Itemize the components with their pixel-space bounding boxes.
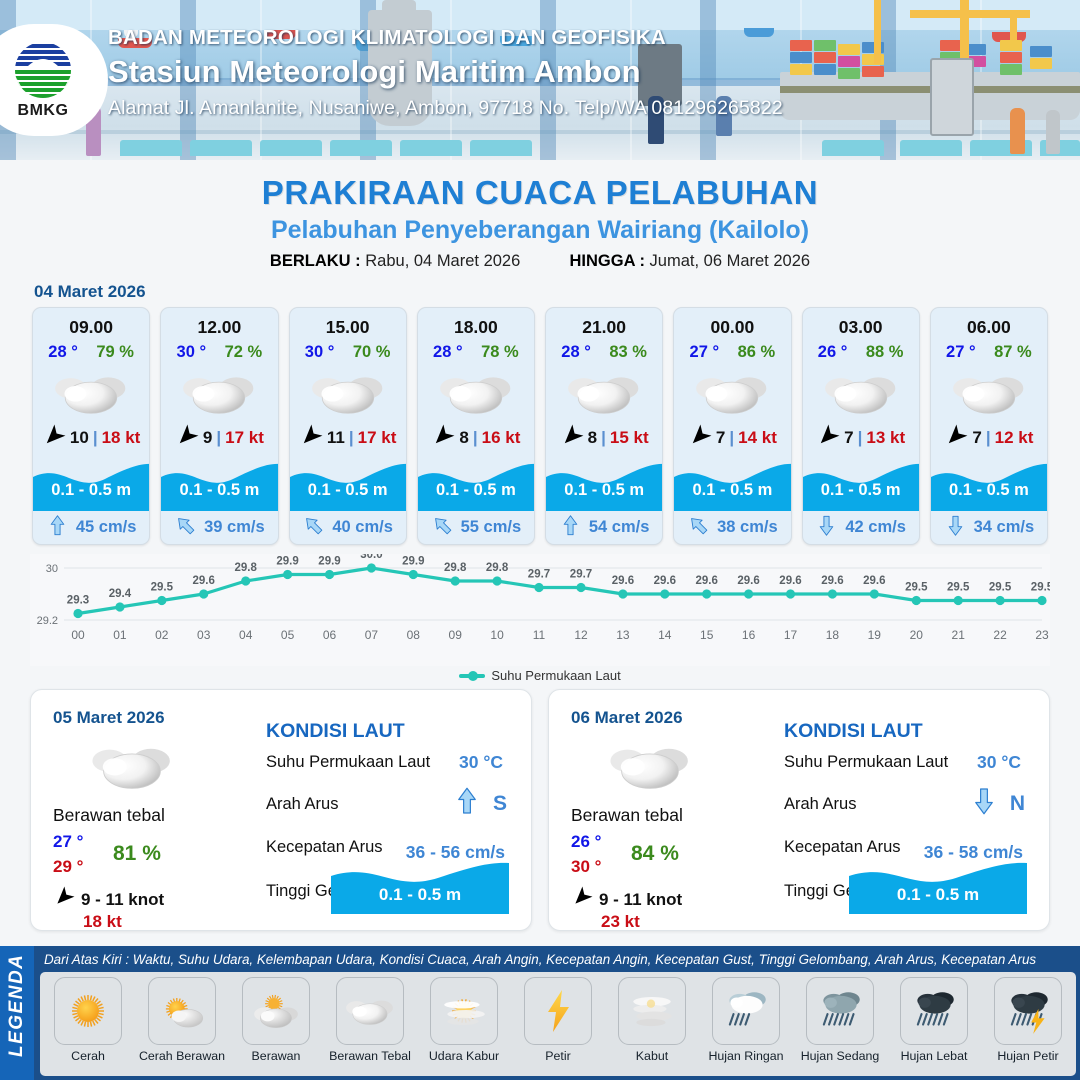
card-separator: | [216,428,221,448]
berawan-icon [242,977,310,1045]
card-wave-height: 0.1 - 0.5 m [161,481,277,500]
svg-text:29.5: 29.5 [989,582,1012,594]
hujan-lebat-icon [900,977,968,1045]
current-direction-label: Arah Arus [266,795,338,814]
berawan-tebal-icon [33,365,149,421]
svg-text:29.6: 29.6 [654,575,676,587]
card-current-speed: 54 cm/s [589,518,650,537]
card-humidity: 88 % [866,343,904,362]
card-wave-block: 0.1 - 0.5 m [674,455,790,511]
svg-text:29.6: 29.6 [696,575,718,587]
card-current-speed: 40 cm/s [332,518,393,537]
card-current-row: 38 cm/s [674,511,790,544]
sst-value: 30 °C [459,752,503,773]
summary-temp-min: 26 ° [571,832,601,852]
card-wind-row: 9 | 17 kt [161,421,277,455]
summary-wind-speed: 9 - 11 knot [599,890,682,910]
svg-text:29.7: 29.7 [570,569,592,581]
svg-text:23: 23 [1035,628,1049,642]
current-direction-icon [46,514,69,542]
card-gust: 16 kt [482,428,521,448]
svg-text:03: 03 [197,628,211,642]
card-current-row: 55 cm/s [418,511,534,544]
svg-text:14: 14 [658,628,672,642]
svg-text:29.8: 29.8 [235,562,258,574]
daily-summary-card: 05 Maret 2026 Berawan tebal 27 ° 29 ° 81… [30,689,532,931]
cerah-icon [54,977,122,1045]
sst-label: Suhu Permukaan Laut [784,753,948,772]
svg-text:01: 01 [113,628,127,642]
card-current-speed: 34 cm/s [974,518,1035,537]
svg-text:18: 18 [826,628,840,642]
card-temp-hum: 27 ° 87 % [931,338,1047,362]
forecast-card: 00.00 27 ° 86 % 7 | 14 kt 0.1 - 0.5 m [673,307,791,545]
card-wind-speed: 7 [716,428,725,448]
card-wave-height: 0.1 - 0.5 m [546,481,662,500]
card-time: 12.00 [161,308,277,338]
current-direction-value: N [1010,792,1025,816]
card-wave-block: 0.1 - 0.5 m [418,455,534,511]
svg-text:30.0: 30.0 [360,554,382,561]
kabut-icon [618,977,686,1045]
petir-icon [524,977,592,1045]
berawan-tebal-icon [418,365,534,421]
card-wind-row: 11 | 17 kt [290,421,406,455]
wind-direction-icon [175,424,199,453]
legend-item-label: Kabut [636,1049,668,1063]
card-wave-block: 0.1 - 0.5 m [290,455,406,511]
hujan-petir-icon [994,977,1062,1045]
legend-item-label: Berawan Tebal [329,1049,411,1063]
svg-text:29.2: 29.2 [37,615,58,627]
svg-text:29.7: 29.7 [528,569,550,581]
card-current-speed: 39 cm/s [204,518,265,537]
card-separator: | [93,428,98,448]
validity-row: BERLAKU : Rabu, 04 Maret 2026 HINGGA : J… [0,252,1080,271]
card-gust: 17 kt [358,428,397,448]
card-current-row: 34 cm/s [931,511,1047,544]
sst-label: Suhu Permukaan Laut [266,753,430,772]
card-temp-hum: 27 ° 86 % [674,338,790,362]
card-current-row: 40 cm/s [290,511,406,544]
legend-note: Dari Atas Kiri : Waktu, Suhu Udara, Kele… [44,952,1036,967]
daily-summary-card: 06 Maret 2026 Berawan tebal 26 ° 30 ° 84… [548,689,1050,931]
forecast-card-row: 09.00 28 ° 79 % 10 | 18 kt 0.1 - 0.5 m [0,307,1080,545]
berawan-tebal-icon [546,365,662,421]
card-time: 15.00 [290,308,406,338]
svg-text:22: 22 [993,628,1007,642]
legend-item-label: Hujan Ringan [708,1049,783,1063]
forecast-card: 12.00 30 ° 72 % 9 | 17 kt 0.1 - 0.5 m [160,307,278,545]
card-wave-height: 0.1 - 0.5 m [290,481,406,500]
svg-text:29.6: 29.6 [821,575,843,587]
station-name: Stasiun Meteorologi Maritim Ambon [108,54,783,90]
header-text-block: BADAN METEOROLOGI KLIMATOLOGI DAN GEOFIS… [108,26,783,120]
forecast-card: 21.00 28 ° 83 % 8 | 15 kt 0.1 - 0.5 m [545,307,663,545]
summary-humidity: 84 % [631,842,679,866]
card-temp-hum: 30 ° 72 % [161,338,277,362]
svg-text:29.5: 29.5 [947,582,970,594]
card-temp-hum: 30 ° 70 % [290,338,406,362]
cerah-berawan-icon [148,977,216,1045]
card-wind-speed: 7 [972,428,981,448]
summary-temp-min: 27 ° [53,832,83,852]
svg-text:29.3: 29.3 [67,595,89,607]
summary-wave-block: 0.1 - 0.5 m [849,852,1027,914]
wind-direction-icon [53,886,75,913]
svg-text:20: 20 [910,628,924,642]
legend-line-marker [459,674,485,678]
hujan-sedang-icon [806,977,874,1045]
card-wind-row: 8 | 15 kt [546,421,662,455]
svg-text:29.6: 29.6 [612,575,634,587]
legend-item: Cerah [44,977,132,1074]
svg-text:29.4: 29.4 [109,588,132,600]
current-direction-icon [559,514,582,542]
legend-item-label: Cerah [71,1049,105,1063]
svg-text:04: 04 [239,628,253,642]
svg-text:07: 07 [365,628,379,642]
berawan-tebal-icon [89,738,175,799]
current-direction-label: Arah Arus [784,795,856,814]
berawan-tebal-icon [931,365,1047,421]
wind-direction-icon [431,424,455,453]
current-direction-icon [174,514,197,542]
svg-text:13: 13 [616,628,630,642]
card-temperature: 30 ° [177,343,207,362]
wind-direction-icon [688,424,712,453]
berawan-tebal-icon [336,977,404,1045]
current-direction-icon [302,514,325,542]
valid-until-value: Jumat, 06 Maret 2026 [650,252,811,270]
summary-wind-row: 9 - 11 knot [571,886,682,913]
card-separator: | [858,428,863,448]
svg-text:12: 12 [574,628,588,642]
legend-item-label: Berawan [252,1049,301,1063]
card-humidity: 78 % [481,343,519,362]
card-current-speed: 55 cm/s [461,518,522,537]
card-temperature: 27 ° [690,343,720,362]
card-current-speed: 38 cm/s [717,518,778,537]
bmkg-logo-mark [12,41,74,101]
card-temp-hum: 26 ° 88 % [803,338,919,362]
card-current-row: 42 cm/s [803,511,919,544]
wind-direction-icon [560,424,584,453]
svg-text:29.9: 29.9 [318,556,340,568]
svg-text:05: 05 [281,628,295,642]
summary-temp-max: 29 ° [53,857,83,877]
summary-condition: Berawan tebal [53,805,165,826]
card-wave-block: 0.1 - 0.5 m [33,455,149,511]
card-separator: | [473,428,478,448]
card-wave-block: 0.1 - 0.5 m [931,455,1047,511]
legend-item: Petir [514,977,602,1074]
card-separator: | [729,428,734,448]
card-wave-height: 0.1 - 0.5 m [803,481,919,500]
svg-text:09: 09 [449,628,463,642]
wind-direction-icon [571,886,593,913]
card-temp-hum: 28 ° 78 % [418,338,534,362]
wind-direction-icon [42,424,66,453]
legend-label: Suhu Permukaan Laut [491,668,620,683]
page-header: BMKG BADAN METEOROLOGI KLIMATOLOGI DAN G… [0,0,1080,160]
current-direction-icon [431,514,454,542]
card-wind-speed: 8 [588,428,597,448]
svg-text:29.5: 29.5 [1031,582,1050,594]
svg-text:17: 17 [784,628,798,642]
forecast-card: 03.00 26 ° 88 % 7 | 13 kt 0.1 - 0.5 m [802,307,920,545]
card-wind-row: 7 | 14 kt [674,421,790,455]
svg-text:29.9: 29.9 [276,556,298,568]
svg-text:29.6: 29.6 [737,575,759,587]
card-wave-block: 0.1 - 0.5 m [803,455,919,511]
card-wave-height: 0.1 - 0.5 m [33,481,149,500]
svg-text:16: 16 [742,628,756,642]
valid-from-label: BERLAKU : [270,252,361,270]
svg-text:00: 00 [71,628,85,642]
sst-value: 30 °C [977,752,1021,773]
legend-item: Cerah Berawan [138,977,226,1074]
card-wind-speed: 8 [459,428,468,448]
wind-direction-icon [944,424,968,453]
chart-legend: Suhu Permukaan Laut [0,668,1080,683]
current-direction-value-row: S [452,786,507,821]
card-humidity: 86 % [738,343,776,362]
svg-text:21: 21 [952,628,966,642]
legend-item: Udara Kabur [420,977,508,1074]
legend-item: Berawan [232,977,320,1074]
card-wind-speed: 11 [327,428,345,448]
card-time: 09.00 [33,308,149,338]
svg-text:29.8: 29.8 [444,562,467,574]
svg-text:29.6: 29.6 [779,575,801,587]
current-direction-value: S [493,792,507,816]
card-humidity: 72 % [225,343,263,362]
summary-wave-value: 0.1 - 0.5 m [849,885,1027,905]
card-wave-block: 0.1 - 0.5 m [161,455,277,511]
sea-conditions-title: KONDISI LAUT [784,720,923,743]
card-wave-height: 0.1 - 0.5 m [418,481,534,500]
hujan-ringan-icon [712,977,780,1045]
summary-date: 06 Maret 2026 [571,708,683,728]
card-temperature: 28 ° [433,343,463,362]
svg-text:10: 10 [490,628,504,642]
summary-date: 05 Maret 2026 [53,708,165,728]
page-title: PRAKIRAAN CUACA PELABUHAN [0,174,1080,212]
svg-text:29.8: 29.8 [486,562,509,574]
sst-chart: 3029.229.30029.40129.50229.60329.80429.9… [30,554,1050,666]
legend-item-label: Hujan Sedang [801,1049,880,1063]
card-temp-hum: 28 ° 79 % [33,338,149,362]
valid-until-label: HINGGA : [569,252,644,270]
card-wind-row: 7 | 13 kt [803,421,919,455]
summary-temp-max: 30 ° [571,857,601,877]
legend-item: Hujan Lebat [890,977,978,1074]
card-wind-speed: 10 [70,428,89,448]
current-direction-icon [969,786,999,821]
card-gust: 12 kt [995,428,1034,448]
card-time: 18.00 [418,308,534,338]
forecast-card: 09.00 28 ° 79 % 10 | 18 kt 0.1 - 0.5 m [32,307,150,545]
card-gust: 13 kt [866,428,905,448]
card-temperature: 27 ° [946,343,976,362]
forecast-card: 15.00 30 ° 70 % 11 | 17 kt 0.1 - 0.5 m [289,307,407,545]
berawan-tebal-icon [161,365,277,421]
bmkg-logo: BMKG [0,24,108,136]
legend-footer: LEGENDA Dari Atas Kiri : Waktu, Suhu Uda… [0,946,1080,1080]
summary-gust: 23 kt [601,912,640,932]
svg-text:08: 08 [407,628,421,642]
berawan-tebal-icon [607,738,693,799]
legend-item-label: Hujan Lebat [901,1049,968,1063]
forecast-date-label: 04 Maret 2026 [34,282,1080,302]
card-current-row: 54 cm/s [546,511,662,544]
card-time: 21.00 [546,308,662,338]
card-wave-height: 0.1 - 0.5 m [674,481,790,500]
daily-summary-row: 05 Maret 2026 Berawan tebal 27 ° 29 ° 81… [0,683,1080,931]
svg-text:29.5: 29.5 [905,582,928,594]
svg-text:29.6: 29.6 [863,575,885,587]
page-subtitle: Pelabuhan Penyeberangan Wairiang (Kailol… [0,216,1080,245]
legend-item-label: Udara Kabur [429,1049,499,1063]
card-current-speed: 45 cm/s [76,518,137,537]
udara-kabur-icon [430,977,498,1045]
legend-item-label: Hujan Petir [997,1049,1058,1063]
current-direction-icon [944,514,967,542]
card-humidity: 70 % [353,343,391,362]
forecast-card: 06.00 27 ° 87 % 7 | 12 kt 0.1 - 0.5 m [930,307,1048,545]
card-separator: | [349,428,354,448]
legend-item-row: Cerah Cerah Berawan Berawan Berawan Teba… [40,972,1076,1076]
forecast-card: 18.00 28 ° 78 % 8 | 16 kt 0.1 - 0.5 m [417,307,535,545]
legend-side-title: LEGENDA [6,957,28,1057]
legend-side-banner: LEGENDA [0,946,34,1080]
berawan-tebal-icon [803,365,919,421]
card-separator: | [986,428,991,448]
title-block: PRAKIRAAN CUACA PELABUHAN Pelabuhan Peny… [0,174,1080,271]
svg-text:15: 15 [700,628,714,642]
card-gust: 14 kt [738,428,777,448]
legend-item: Hujan Sedang [796,977,884,1074]
summary-wind-row: 9 - 11 knot [53,886,164,913]
svg-text:11: 11 [533,628,546,642]
legend-item: Berawan Tebal [326,977,414,1074]
card-humidity: 87 % [994,343,1032,362]
legend-item-label: Petir [545,1049,570,1063]
card-humidity: 79 % [96,343,134,362]
card-temperature: 28 ° [48,343,78,362]
legend-item: Kabut [608,977,696,1074]
current-direction-icon [452,786,482,821]
station-address: Alamat Jl. Amanlanite, Nusaniwe, Ambon, … [108,97,783,120]
summary-gust: 18 kt [83,912,122,932]
legend-item-label: Cerah Berawan [139,1049,225,1063]
card-temperature: 30 ° [305,343,335,362]
wind-direction-icon [299,424,323,453]
card-time: 00.00 [674,308,790,338]
svg-text:29.5: 29.5 [151,582,174,594]
valid-from-value: Rabu, 04 Maret 2026 [365,252,520,270]
bmkg-logo-text: BMKG [18,102,69,120]
current-direction-value-row: N [969,786,1025,821]
card-time: 06.00 [931,308,1047,338]
card-temperature: 28 ° [561,343,591,362]
current-direction-icon [687,514,710,542]
berawan-tebal-icon [674,365,790,421]
card-gust: 15 kt [610,428,649,448]
sea-conditions-title: KONDISI LAUT [266,720,405,743]
svg-text:29.6: 29.6 [193,575,215,587]
card-temp-hum: 28 ° 83 % [546,338,662,362]
berawan-tebal-icon [290,365,406,421]
card-current-row: 45 cm/s [33,511,149,544]
summary-wind-speed: 9 - 11 knot [81,890,164,910]
legend-item: Hujan Petir [984,977,1072,1074]
card-gust: 18 kt [102,428,141,448]
svg-text:30: 30 [46,563,58,575]
card-wind-row: 8 | 16 kt [418,421,534,455]
agency-name: BADAN METEOROLOGI KLIMATOLOGI DAN GEOFIS… [108,26,783,50]
svg-text:02: 02 [155,628,169,642]
card-current-speed: 42 cm/s [845,518,906,537]
wind-direction-icon [816,424,840,453]
card-current-row: 39 cm/s [161,511,277,544]
card-humidity: 83 % [609,343,647,362]
current-direction-icon [815,514,838,542]
card-separator: | [601,428,606,448]
summary-wave-block: 0.1 - 0.5 m [331,852,509,914]
card-wind-speed: 9 [203,428,212,448]
card-wind-speed: 7 [844,428,853,448]
card-temperature: 26 ° [818,343,848,362]
summary-condition: Berawan tebal [571,805,683,826]
summary-humidity: 81 % [113,842,161,866]
card-time: 03.00 [803,308,919,338]
summary-wave-value: 0.1 - 0.5 m [331,885,509,905]
card-wave-block: 0.1 - 0.5 m [546,455,662,511]
card-gust: 17 kt [225,428,264,448]
card-wind-row: 10 | 18 kt [33,421,149,455]
card-wave-height: 0.1 - 0.5 m [931,481,1047,500]
svg-text:29.9: 29.9 [402,556,424,568]
card-wind-row: 7 | 12 kt [931,421,1047,455]
legend-item: Hujan Ringan [702,977,790,1074]
svg-text:06: 06 [323,628,337,642]
svg-text:19: 19 [868,628,882,642]
